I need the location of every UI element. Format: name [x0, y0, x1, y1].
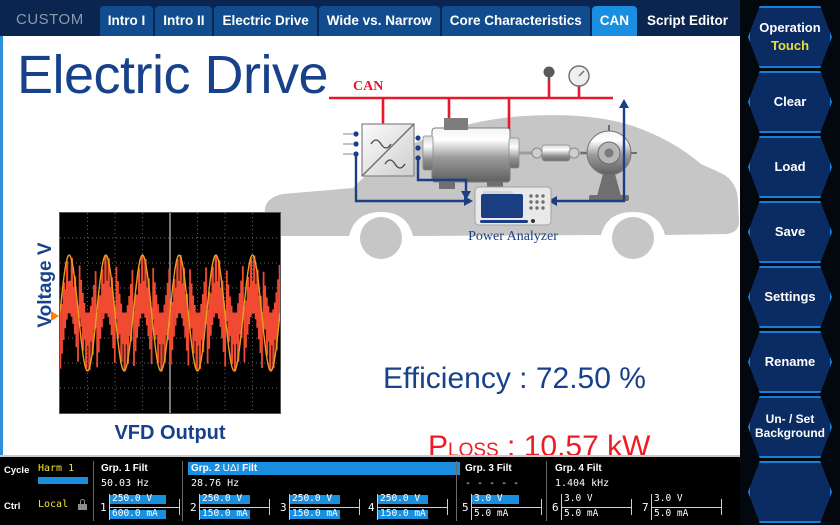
channel-range-bars: 250.0 V150.0 mA — [377, 493, 448, 521]
status-divider — [182, 461, 183, 521]
channel-range-bars: 250.0 V150.0 mA — [199, 493, 270, 521]
trigger-marker-icon — [51, 311, 59, 321]
channel-range-bars: 3.0 V5.0 mA — [651, 493, 722, 521]
efficiency-readout: Efficiency : 72.50 % — [383, 362, 646, 396]
tab-intro-i[interactable]: Intro I — [100, 6, 154, 36]
channel-number: 7 — [642, 501, 649, 514]
current-range-value: 5.0 mA — [564, 508, 598, 519]
voltage-range-value: 3.0 V — [474, 493, 503, 504]
power-loss-readout: PLOSS : 10.57 kW — [428, 430, 650, 455]
status-divider — [546, 461, 547, 521]
custom-menu-label[interactable]: CUSTOM — [6, 11, 98, 36]
channel-range-6[interactable]: 63.0 V5.0 mA — [552, 493, 634, 523]
group-frequency: 28.76 Hz — [191, 478, 239, 489]
channel-range-bars: 250.0 V150.0 mA — [289, 493, 360, 521]
waveform-panel[interactable]: Voltage V — [19, 208, 289, 455]
channel-range-bars: 3.0 V5.0 mA — [471, 493, 542, 521]
channel-number: 3 — [280, 501, 287, 514]
voltage-range-value: 3.0 V — [654, 493, 683, 504]
inverter — [343, 124, 414, 176]
voltage-range-value: 250.0 V — [292, 493, 332, 504]
waveform-y-axis-label: Voltage V — [35, 230, 57, 340]
sidebar-button-label: Settings — [764, 290, 815, 305]
channel-range-1[interactable]: 1250.0 V600.0 mA — [100, 493, 182, 523]
cycle-bar — [38, 477, 88, 484]
current-range-value: 150.0 mA — [202, 508, 248, 519]
drivetrain-diagram: CAN — [261, 46, 740, 296]
current-range-value: 5.0 mA — [654, 508, 688, 519]
channel-number: 6 — [552, 501, 559, 514]
group-frequency: 1.404 kHz — [555, 478, 609, 489]
power-analyzer-label: Power Analyzer — [468, 229, 558, 244]
tab-script-editor[interactable]: Script Editor — [639, 6, 736, 36]
sidebar-button-operation[interactable]: OperationTouch — [748, 6, 832, 68]
channel-range-bars: 250.0 V600.0 mA — [109, 493, 180, 521]
current-range-value: 150.0 mA — [292, 508, 338, 519]
sensor-icons — [544, 66, 590, 86]
sidebar-button-label: Rename — [765, 355, 816, 370]
power-analyzer-device — [475, 187, 551, 225]
group-frequency: - - - - - — [465, 478, 519, 489]
channel-range-3[interactable]: 3250.0 V150.0 mA — [280, 493, 362, 523]
lock-icon[interactable] — [78, 499, 87, 510]
current-range-value: 5.0 mA — [474, 508, 508, 519]
channel-number: 1 — [100, 501, 107, 514]
channel-number: 4 — [368, 501, 375, 514]
tab-core-characteristics[interactable]: Core Characteristics — [442, 6, 590, 36]
sidebar-button-label: Clear — [774, 95, 807, 110]
can-label: CAN — [353, 79, 383, 94]
scope-svg — [60, 213, 280, 413]
cycle-value[interactable]: Harm 1 — [38, 463, 74, 474]
sidebar-button-rename[interactable]: Rename — [748, 331, 832, 393]
voltage-range-value: 3.0 V — [564, 493, 593, 504]
function-key-sidebar: OperationTouchClearLoadSaveSettingsRenam… — [740, 0, 840, 525]
sidebar-button-save[interactable]: Save — [748, 201, 832, 263]
ctrl-value[interactable]: Local — [38, 499, 68, 510]
ploss-prefix: P — [428, 430, 448, 455]
sidebar-button-un-set-background[interactable]: Un- / Set Background — [748, 396, 832, 458]
oscilloscope-display[interactable] — [59, 212, 281, 414]
channel-range-bars: 3.0 V5.0 mA — [561, 493, 632, 521]
sidebar-button-label: Load — [774, 160, 805, 175]
group-frequency: 50.03 Hz — [101, 478, 149, 489]
sidebar-button-clear[interactable]: Clear — [748, 71, 832, 133]
current-range-value: 600.0 mA — [112, 508, 158, 519]
sidebar-button-label: Un- / Set Background — [755, 413, 825, 441]
waveform-caption: VFD Output — [59, 422, 281, 445]
cycle-label: Cycle — [4, 465, 29, 476]
sidebar-button-load[interactable]: Load — [748, 136, 832, 198]
sidebar-button-sublabel: Touch — [771, 39, 809, 54]
main-canvas[interactable]: Electric Drive — [0, 36, 740, 455]
voltage-range-value: 250.0 V — [380, 493, 420, 504]
ploss-subscript: LOSS — [448, 440, 499, 455]
voltage-range-value: 250.0 V — [202, 493, 242, 504]
sidebar-button-blank[interactable] — [748, 461, 832, 523]
voltage-range-value: 250.0 V — [112, 493, 152, 504]
tab-wide-vs-narrow[interactable]: Wide vs. Narrow — [319, 6, 440, 36]
group-header[interactable]: Grp. 2 UΔI Filt — [188, 462, 460, 475]
sidebar-button-label: Operation — [759, 21, 820, 36]
sidebar-button-label: Save — [775, 225, 805, 240]
application-window: CUSTOM Intro IIntro IIElectric DriveWide… — [0, 0, 840, 525]
channel-range-5[interactable]: 53.0 V5.0 mA — [462, 493, 544, 523]
channel-range-7[interactable]: 73.0 V5.0 mA — [642, 493, 724, 523]
tab-can[interactable]: CAN — [592, 6, 637, 36]
status-cycle-ctrl: Cycle Harm 1 Ctrl Local — [4, 459, 92, 525]
tab-intro-ii[interactable]: Intro II — [155, 6, 212, 36]
channel-range-2[interactable]: 2250.0 V150.0 mA — [190, 493, 272, 523]
ploss-value: : 10.57 kW — [499, 430, 651, 455]
sidebar-button-settings[interactable]: Settings — [748, 266, 832, 328]
channel-number: 2 — [190, 501, 197, 514]
status-bar: Cycle Harm 1 Ctrl Local Grp. 1 Filt50.03… — [0, 455, 740, 525]
status-divider — [456, 461, 457, 521]
tab-bar: CUSTOM Intro IIntro IIElectric DriveWide… — [0, 0, 740, 36]
current-range-value: 150.0 mA — [380, 508, 426, 519]
ctrl-label: Ctrl — [4, 501, 20, 512]
group-header[interactable]: Grp. 4 Filt — [552, 462, 605, 475]
group-header[interactable]: Grp. 3 Filt — [462, 462, 515, 475]
channel-number: 5 — [462, 501, 469, 514]
channel-range-4[interactable]: 4250.0 V150.0 mA — [368, 493, 450, 523]
group-header[interactable]: Grp. 1 Filt — [98, 462, 151, 475]
tab-electric-drive[interactable]: Electric Drive — [214, 6, 316, 36]
